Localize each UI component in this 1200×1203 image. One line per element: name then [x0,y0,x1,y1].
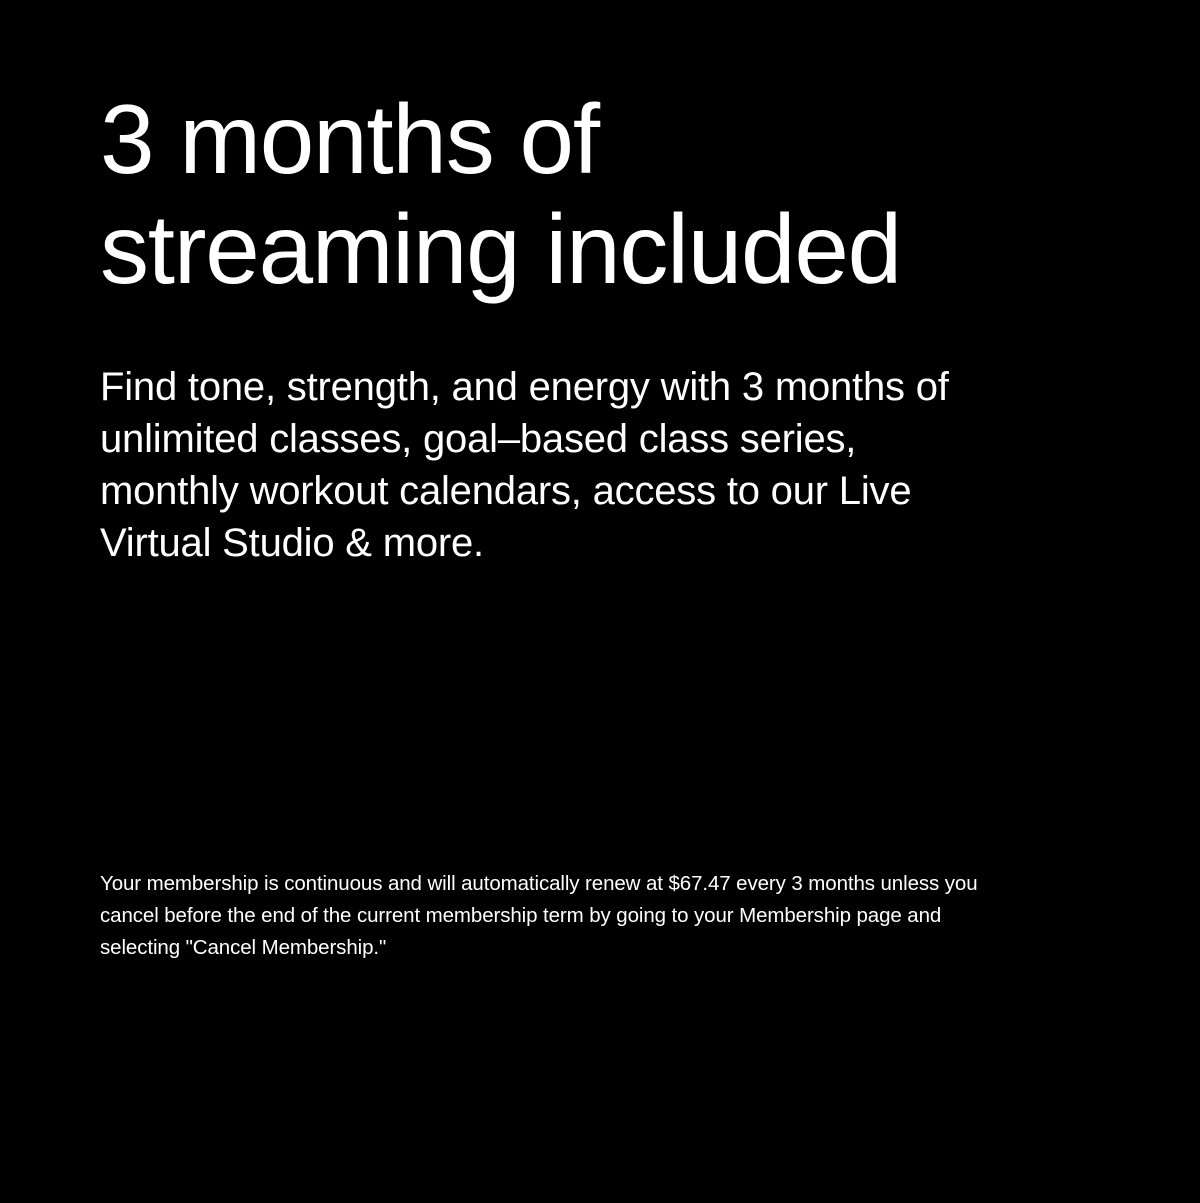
renewal-disclaimer: Your membership is continuous and will a… [100,868,990,964]
promo-description: Find tone, strength, and energy with 3 m… [100,361,960,569]
promo-panel: 3 months of streaming included Find tone… [0,0,1200,1203]
page-title: 3 months of streaming included [100,84,1000,304]
media-placeholder [0,580,1200,860]
